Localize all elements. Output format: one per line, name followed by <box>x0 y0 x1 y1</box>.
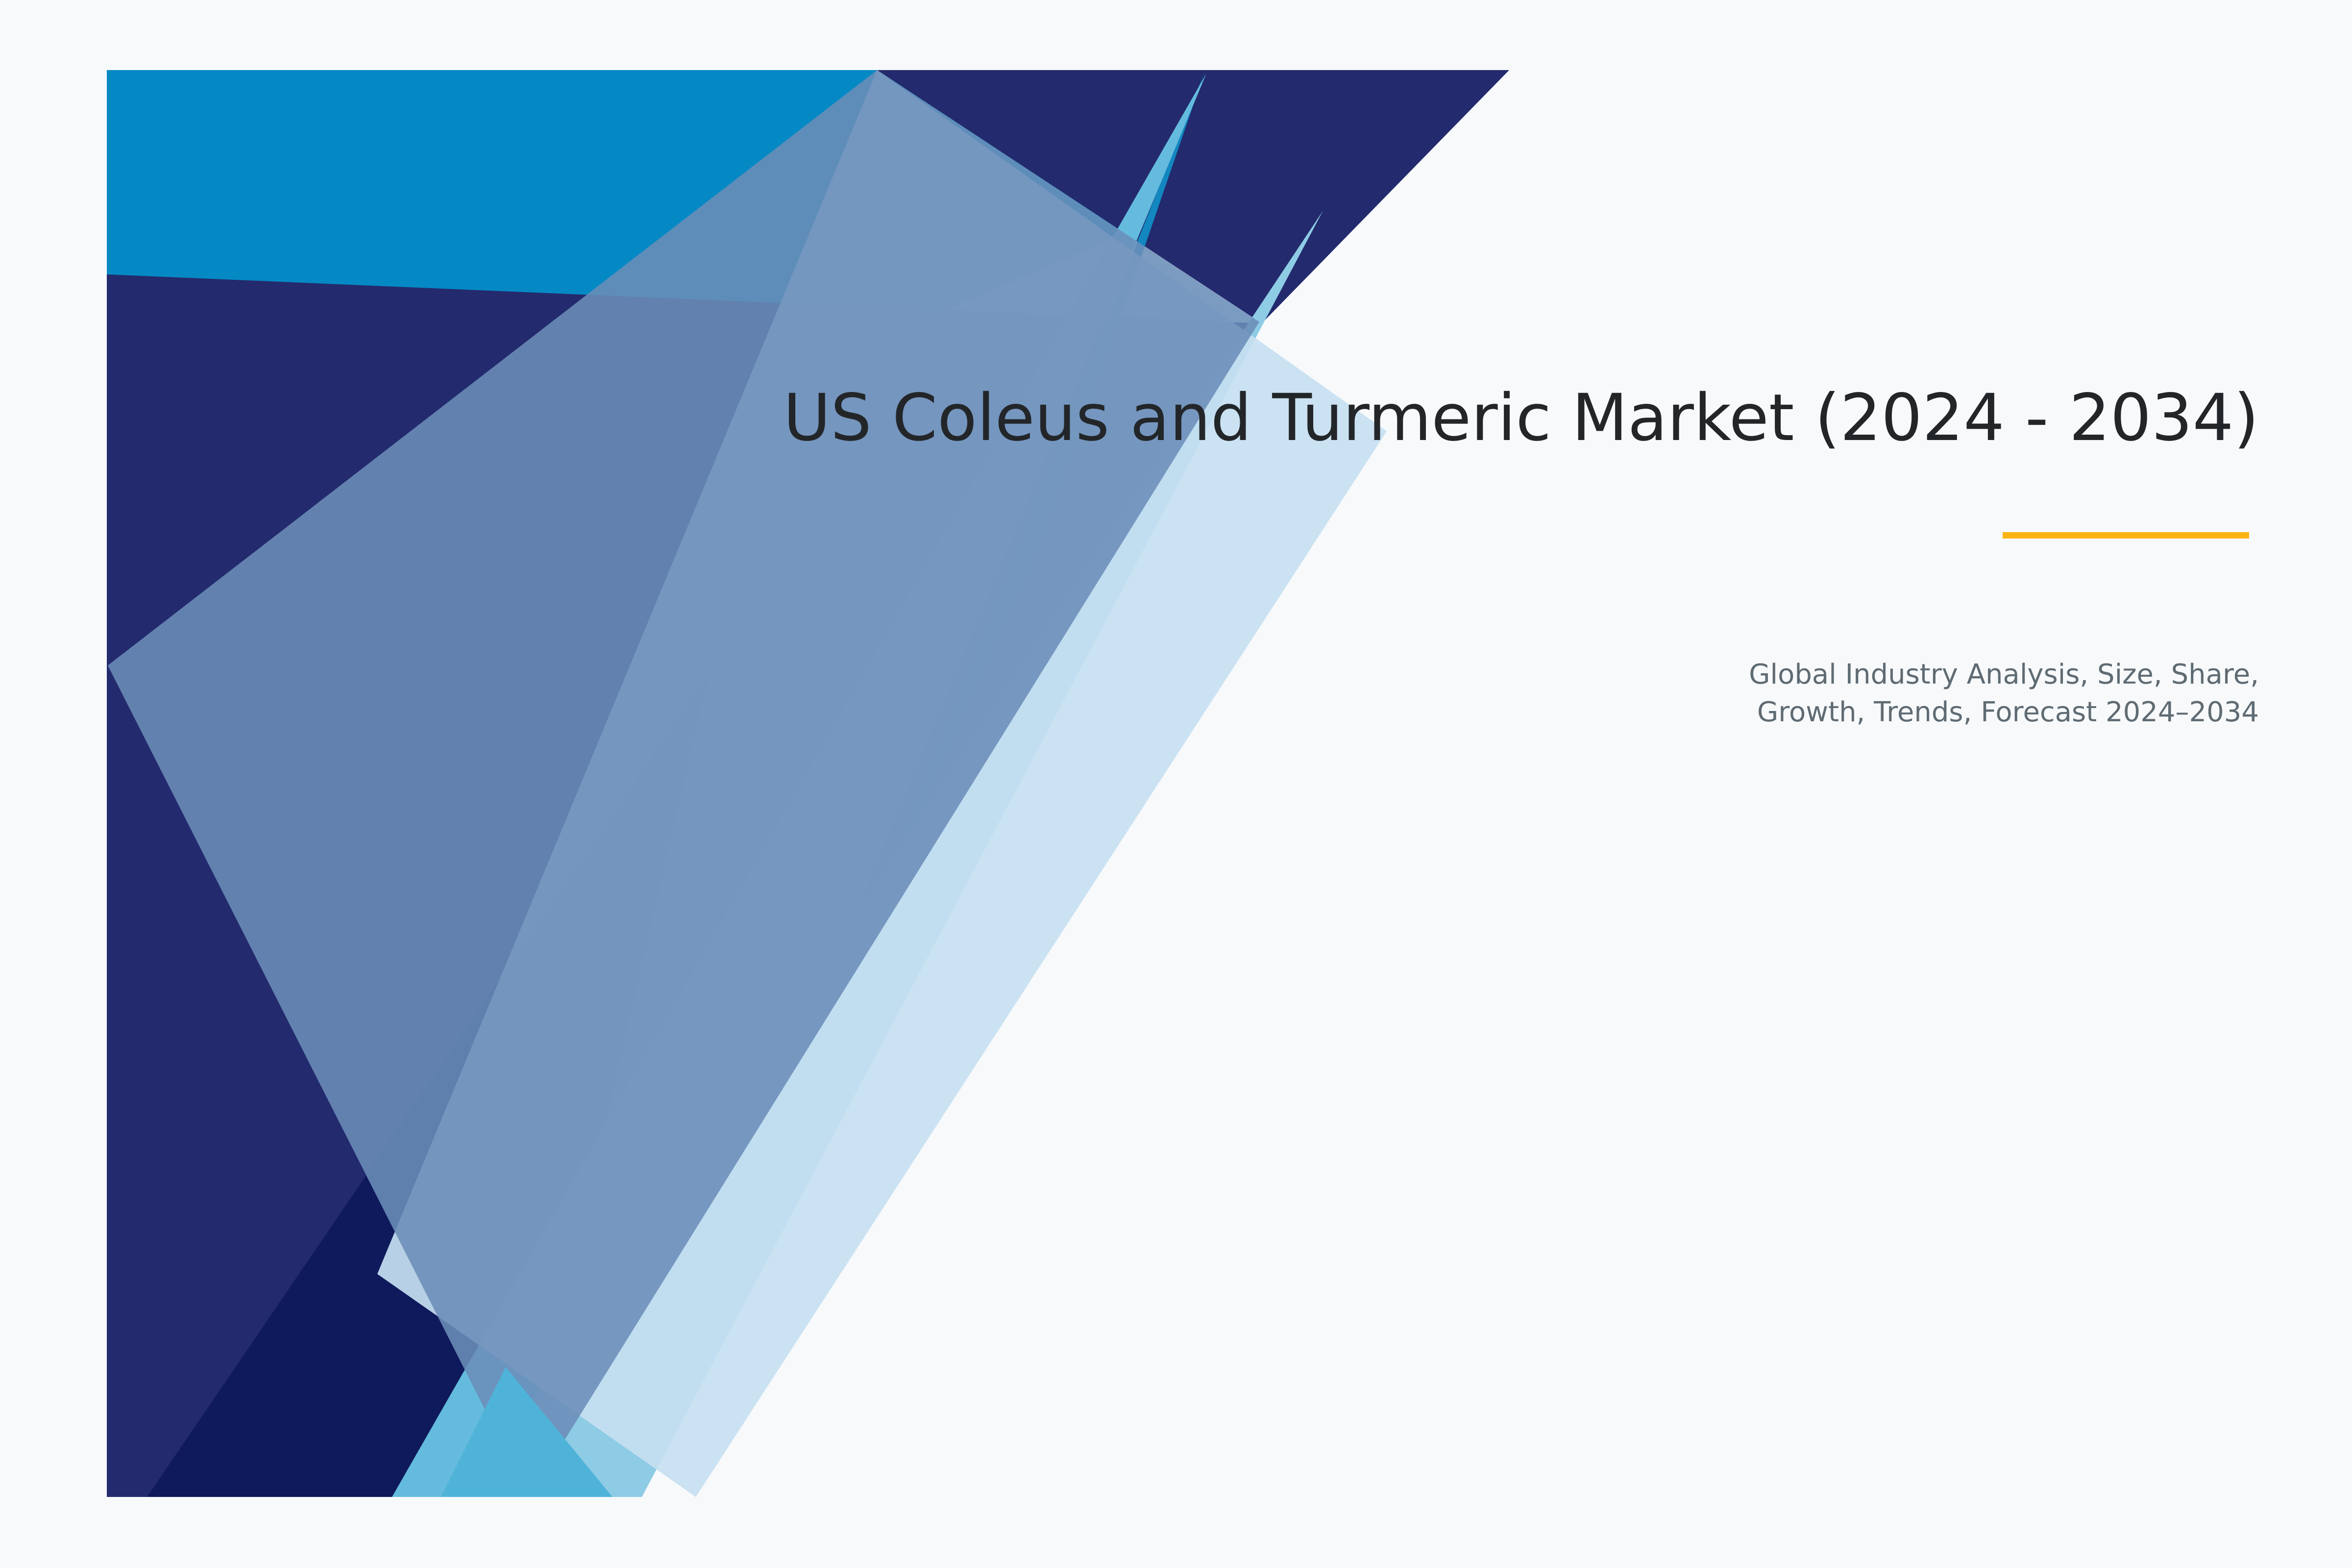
sky-bottom-notch <box>441 1367 612 1497</box>
title-underline-accent <box>2003 532 2249 539</box>
page-subtitle: Global Industry Analysis, Size, Share, G… <box>735 656 2259 732</box>
slate-overlay-parallelogram <box>108 70 1259 1497</box>
deep-navy-lower-wedge <box>147 672 709 1497</box>
cyan-upper-field <box>107 70 1509 666</box>
abstract-geometric-cover-graphic <box>0 0 2352 1568</box>
sky-diagonal-band <box>392 73 1206 1497</box>
page-title: US Coleus and Turmeric Market (2024 - 20… <box>735 372 2259 464</box>
cyan-spike <box>833 73 1204 1009</box>
navy-upper-right-triangle <box>877 70 1509 323</box>
mist-parallelogram <box>377 70 1387 1497</box>
cover-text-block: US Coleus and Turmeric Market (2024 - 20… <box>735 372 2259 464</box>
title-wrap: US Coleus and Turmeric Market (2024 - 20… <box>735 372 2259 464</box>
report-cover: US Coleus and Turmeric Market (2024 - 20… <box>0 0 2352 1568</box>
